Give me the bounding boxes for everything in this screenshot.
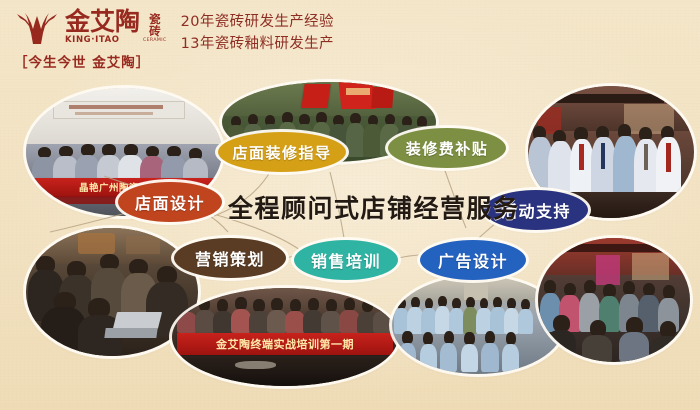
photo-training-assembly: 金艾陶终端实战培训第一期 <box>172 288 398 386</box>
promo-banner: 晶艳广州陶瓷工业展 <box>0 0 700 410</box>
badge-decor-subsidy[interactable]: 装修费补贴 <box>388 128 506 168</box>
brand-slogan: ［今生今世 金艾陶］ <box>14 51 167 71</box>
badge-sales-training[interactable]: 销售培训 <box>294 240 398 280</box>
photo-banner-text: 金艾陶终端实战培训第一期 <box>177 333 394 355</box>
page-title: 全程顾问式店铺经营服务 <box>228 189 520 225</box>
badge-marketing-plan[interactable]: 营销策划 <box>174 238 286 278</box>
crown-antler-icon <box>14 11 62 45</box>
tagline-list: 20年瓷砖研发生产经验 13年瓷砖釉料研发生产 <box>181 11 334 56</box>
brand-name-cn: 金艾陶 <box>65 9 140 34</box>
badge-decor-guidance[interactable]: 店面装修指导 <box>218 132 346 172</box>
badge-store-design[interactable]: 店面设计 <box>118 182 222 222</box>
brand-name-en: KING·ITAO <box>65 36 140 45</box>
brand-header: 金艾陶 KING·ITAO 瓷 砖 CERAMIC ［今生今世 金艾陶］ 20年… <box>14 9 334 71</box>
brand-suffix-cn-2: 砖 <box>149 26 161 38</box>
tagline-2: 13年瓷砖釉料研发生产 <box>181 33 334 55</box>
brand-suffix-en: CERAMIC <box>143 39 167 44</box>
tagline-1: 20年瓷砖研发生产经验 <box>181 11 334 33</box>
brand-logo: 金艾陶 KING·ITAO 瓷 砖 CERAMIC ［今生今世 金艾陶］ <box>14 9 167 71</box>
badge-ad-design[interactable]: 广告设计 <box>420 240 526 280</box>
photo-store-crowd <box>538 238 690 362</box>
